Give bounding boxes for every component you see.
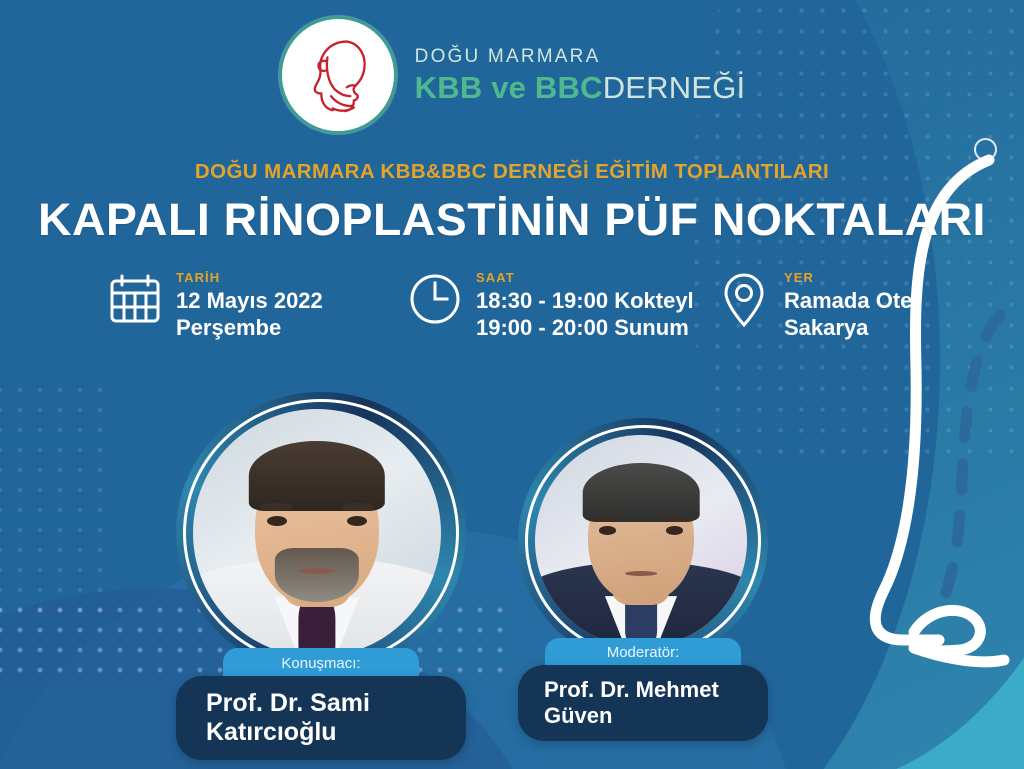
logo-line-2-light: DERNEĞİ [603,70,746,105]
detail-venue-line-2: Sakarya [784,315,919,342]
detail-venue-kicker: YER [784,270,919,285]
person-card-moderator: Moderatör: Prof. Dr. Mehmet Güven [518,418,768,741]
detail-date-line-2: Perşembe [176,315,323,342]
logo-row: DOĞU MARMARA KBB ve BBCDERNEĞİ [0,16,1024,134]
avatar-ring-outer [518,418,768,664]
calendar-icon [108,272,162,331]
halftone-dots-left-upper [0,380,110,620]
name-label-moderator: Prof. Dr. Mehmet Güven [518,665,768,741]
page-title: KAPALI RİNOPLASTİNİN PÜF NOKTALARI [0,194,1024,246]
detail-time: SAAT 18:30 - 19:00 Kokteyl 19:00 - 20:00… [408,270,718,342]
clock-icon [408,272,462,331]
event-subtitle: DOĞU MARMARA KBB&BBC DERNEĞİ EĞİTİM TOPL… [0,160,1024,184]
person-card-speaker: Konuşmacı: Prof. Dr. Sami Katırcıoğlu [176,392,466,760]
event-poster: DOĞU MARMARA KBB ve BBCDERNEĞİ DOĞU MARM… [0,0,1024,769]
detail-date-line-1: 12 Mayıs 2022 [176,288,323,315]
detail-time-kicker: SAAT [476,270,694,285]
logo-wordmark: DOĞU MARMARA KBB ve BBCDERNEĞİ [415,47,746,103]
detail-venue-line-1: Ramada Otel [784,288,919,315]
name-label-speaker: Prof. Dr. Sami Katırcıoğlu [176,676,466,760]
detail-time-line-1: 18:30 - 19:00 Kokteyl [476,288,694,315]
detail-time-line-2: 19:00 - 20:00 Sunum [476,315,694,342]
location-pin-icon [718,272,770,333]
avatar [535,435,747,647]
avatar-ring-outer [176,392,466,674]
event-details-row: TARİH 12 Mayıs 2022 Perşembe SAAT 18:30 … [108,270,938,342]
avatar [193,409,441,657]
detail-venue-text: YER Ramada Otel Sakarya [784,270,919,342]
head-profile-icon [279,16,397,134]
detail-venue: YER Ramada Otel Sakarya [718,270,938,342]
detail-date: TARİH 12 Mayıs 2022 Perşembe [108,270,408,342]
detail-date-kicker: TARİH [176,270,323,285]
logo-line-1: DOĞU MARMARA [415,47,746,66]
logo-line-2: KBB ve BBCDERNEĞİ [415,72,746,103]
avatar-ring-white [525,425,761,657]
detail-date-text: TARİH 12 Mayıs 2022 Perşembe [176,270,323,342]
logo-line-2-green: KBB ve BBC [415,70,603,105]
detail-time-text: SAAT 18:30 - 19:00 Kokteyl 19:00 - 20:00… [476,270,694,342]
avatar-ring-white [183,399,459,667]
